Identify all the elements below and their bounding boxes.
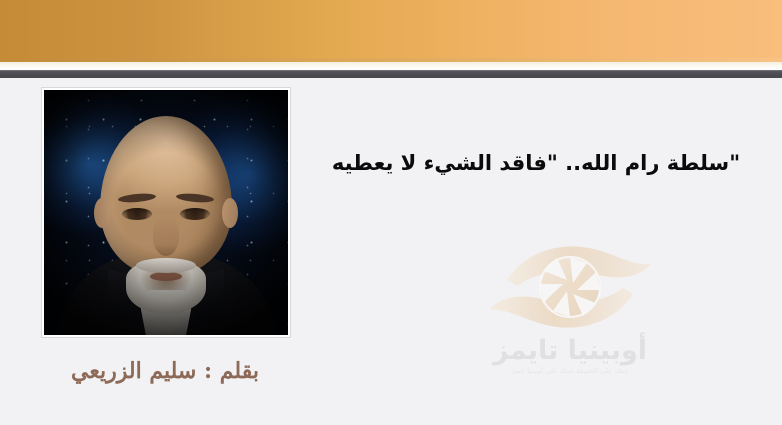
article-header-page: "سلطة رام الله.. "فاقد الشيء لا يعطيه بق… [0,0,782,425]
author-portrait-image [44,90,288,335]
top-orange-band [0,0,782,62]
portrait-vignette [44,90,288,335]
article-headline: "سلطة رام الله.. "فاقد الشيء لا يعطيه [326,148,746,178]
watermark-tagline: عينك على الحقيقة عينك على أوبينيا تايمز [455,366,685,376]
dark-divider-bar [0,70,782,78]
band-gap-strip [0,62,782,70]
site-watermark: أوبينيا تايمز عينك على الحقيقة عينك على … [455,236,685,396]
article-byline: بقلم : سليم الزريعي [44,356,286,386]
eye-aperture-logo-icon [455,236,685,341]
author-portrait-frame [41,87,291,338]
dark-bar-highlight [0,70,782,71]
watermark-site-name: أوبينيا تايمز [455,336,685,366]
